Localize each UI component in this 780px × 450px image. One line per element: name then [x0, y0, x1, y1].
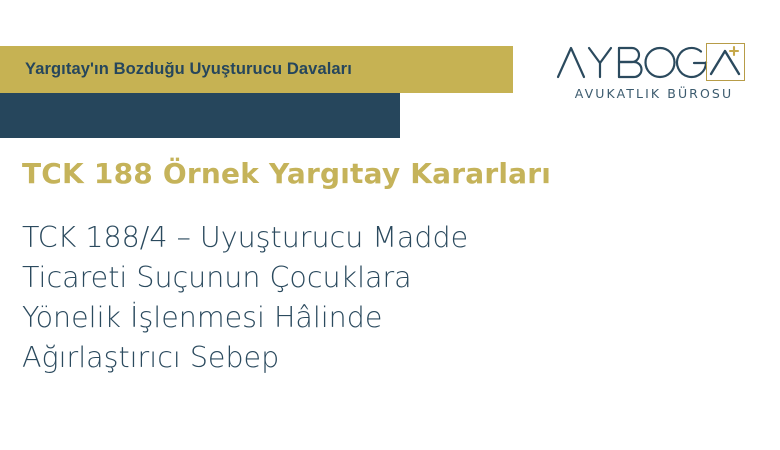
- body-line: Yönelik İşlenmesi Hâlinde: [22, 298, 582, 338]
- logo-wordmark: [556, 42, 708, 82]
- body-line: Ticareti Suçunun Çocuklara: [22, 258, 582, 298]
- body-paragraph: TCK 188/4 – Uyuşturucu Madde Ticareti Su…: [22, 218, 582, 378]
- body-line: TCK 188/4 – Uyuşturucu Madde: [22, 218, 582, 258]
- logo-a-chevron-icon: [707, 44, 743, 79]
- logo-wordmark-letters: [556, 42, 708, 82]
- logo-plus-icon: [730, 47, 738, 55]
- page-title: TCK 188 Örnek Yargıtay Kararları: [22, 157, 551, 190]
- brand-logo: AVUKATLIK BÜROSU: [556, 40, 752, 108]
- body-line: Ağırlaştırıcı Sebep: [22, 338, 582, 378]
- logo-subtitle: AVUKATLIK BÜROSU: [556, 86, 752, 101]
- logo-mark: [556, 40, 752, 84]
- header-banner-label: Yargıtay'ın Bozduğu Uyuşturucu Davaları: [25, 46, 352, 93]
- logo-boxed-letter: [706, 43, 745, 81]
- slide-canvas: Yargıtay'ın Bozduğu Uyuşturucu Davaları: [0, 0, 780, 450]
- header-gold-band: Yargıtay'ın Bozduğu Uyuşturucu Davaları: [0, 46, 513, 93]
- header-navy-block: [0, 93, 400, 138]
